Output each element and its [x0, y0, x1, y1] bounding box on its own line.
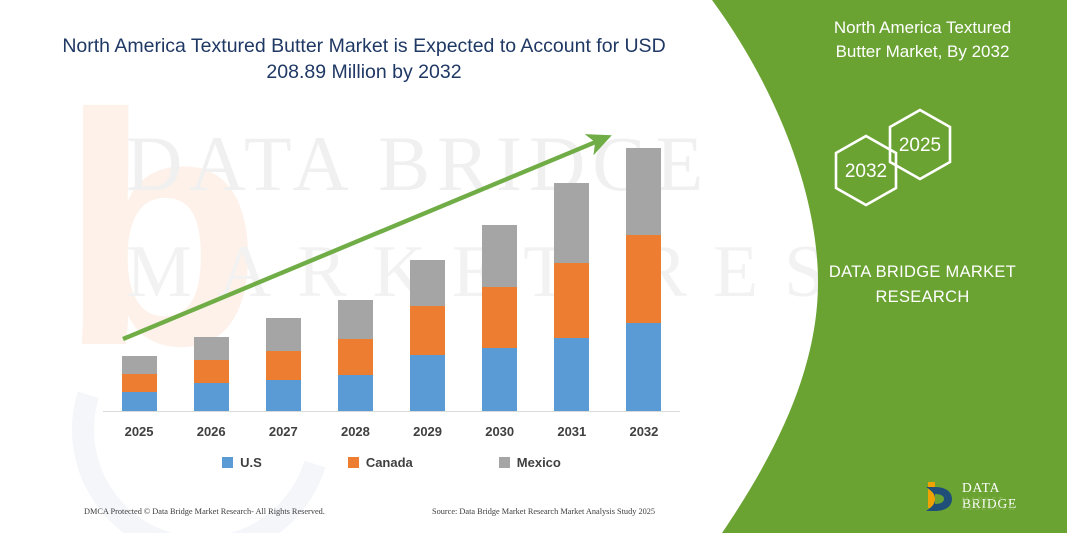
bar-segment-us-2029[interactable] — [410, 355, 445, 411]
bar-segment-mexico-2025[interactable] — [122, 356, 157, 374]
infographic-canvas: b DATA BRIDGE MARKET RESEARCH North Amer… — [0, 0, 1067, 533]
x-axis-label-2032: 2032 — [608, 424, 680, 439]
bar-segment-canada-2029[interactable] — [410, 306, 445, 355]
legend-item-us[interactable]: U.S — [222, 455, 262, 470]
x-axis-label-2031: 2031 — [536, 424, 608, 439]
bar-slot-2027 — [247, 120, 319, 411]
bar-slot-2026 — [175, 120, 247, 411]
x-axis-label-2029: 2029 — [392, 424, 464, 439]
legend-label-mexico: Mexico — [517, 455, 561, 470]
bar-segment-us-2032[interactable] — [626, 323, 661, 411]
bar-segment-canada-2028[interactable] — [338, 339, 373, 375]
bar-segment-canada-2026[interactable] — [194, 360, 229, 383]
legend-swatch-canada — [348, 457, 359, 468]
x-axis-line — [103, 411, 680, 412]
stacked-bar-2025[interactable] — [122, 356, 157, 411]
bar-segment-us-2031[interactable] — [554, 338, 589, 411]
bar-segment-us-2028[interactable] — [338, 375, 373, 411]
bar-segment-us-2027[interactable] — [266, 380, 301, 411]
legend-label-canada: Canada — [366, 455, 413, 470]
x-axis-label-2030: 2030 — [464, 424, 536, 439]
chart-legend: U.SCanadaMexico — [103, 455, 680, 470]
panel-brand-line2: RESEARCH — [800, 285, 1045, 310]
bar-slot-2029 — [392, 120, 464, 411]
chart-plot-area — [103, 120, 680, 412]
x-axis-label-2025: 2025 — [103, 424, 175, 439]
bar-group — [103, 120, 680, 411]
bar-segment-mexico-2030[interactable] — [482, 225, 517, 287]
bar-slot-2031 — [536, 120, 608, 411]
footer-copyright: DMCA Protected © Data Bridge Market Rese… — [84, 507, 432, 516]
stacked-bar-2027[interactable] — [266, 318, 301, 411]
x-axis-labels: 20252026202720282029203020312032 — [103, 424, 680, 439]
bar-segment-mexico-2032[interactable] — [626, 148, 661, 235]
bar-slot-2025 — [103, 120, 175, 411]
hexagon-2032-label: 2032 — [845, 161, 887, 182]
x-axis-label-2027: 2027 — [247, 424, 319, 439]
bar-slot-2032 — [608, 120, 680, 411]
bar-segment-mexico-2026[interactable] — [194, 337, 229, 360]
bar-segment-us-2030[interactable] — [482, 348, 517, 411]
legend-item-mexico[interactable]: Mexico — [499, 455, 561, 470]
x-axis-label-2026: 2026 — [175, 424, 247, 439]
hexagon-2025-label: 2025 — [899, 135, 941, 156]
footer-bar: DMCA Protected © Data Bridge Market Rese… — [84, 507, 684, 516]
bar-segment-mexico-2027[interactable] — [266, 318, 301, 351]
chart-title: North America Textured Butter Market is … — [58, 33, 670, 85]
hexagon-pair: 2025 2032 — [820, 105, 1020, 215]
bar-segment-mexico-2028[interactable] — [338, 300, 373, 339]
bar-segment-mexico-2031[interactable] — [554, 183, 589, 263]
stacked-bar-2032[interactable] — [626, 148, 661, 411]
panel-title: North America Textured Butter Market, By… — [810, 16, 1035, 64]
footer-source: Source: Data Bridge Market Research Mark… — [432, 507, 655, 516]
legend-swatch-us — [222, 457, 233, 468]
bar-segment-canada-2030[interactable] — [482, 287, 517, 348]
legend-swatch-mexico — [499, 457, 510, 468]
panel-brand-line1: DATA BRIDGE MARKET — [800, 260, 1045, 285]
bar-segment-mexico-2029[interactable] — [410, 260, 445, 306]
stacked-bar-2029[interactable] — [410, 260, 445, 411]
stacked-bar-2030[interactable] — [482, 225, 517, 411]
b-monogram-icon — [922, 478, 960, 516]
bar-segment-canada-2025[interactable] — [122, 374, 157, 392]
bar-slot-2030 — [464, 120, 536, 411]
data-bridge-logo: DATA BRIDGE MARKET RESEARCH — [922, 478, 1052, 518]
bar-segment-canada-2027[interactable] — [266, 351, 301, 380]
legend-item-canada[interactable]: Canada — [348, 455, 413, 470]
panel-brand: DATA BRIDGE MARKET RESEARCH — [800, 260, 1045, 310]
x-axis-label-2028: 2028 — [319, 424, 391, 439]
bar-segment-us-2025[interactable] — [122, 392, 157, 411]
bar-segment-canada-2031[interactable] — [554, 263, 589, 338]
stacked-bar-2028[interactable] — [338, 300, 373, 411]
stacked-bar-2026[interactable] — [194, 337, 229, 411]
bar-segment-us-2026[interactable] — [194, 383, 229, 411]
logo-subtext: MARKET RESEARCH — [962, 496, 1052, 512]
bar-segment-canada-2032[interactable] — [626, 235, 661, 323]
bar-slot-2028 — [319, 120, 391, 411]
stacked-bar-2031[interactable] — [554, 183, 589, 411]
legend-label-us: U.S — [240, 455, 262, 470]
